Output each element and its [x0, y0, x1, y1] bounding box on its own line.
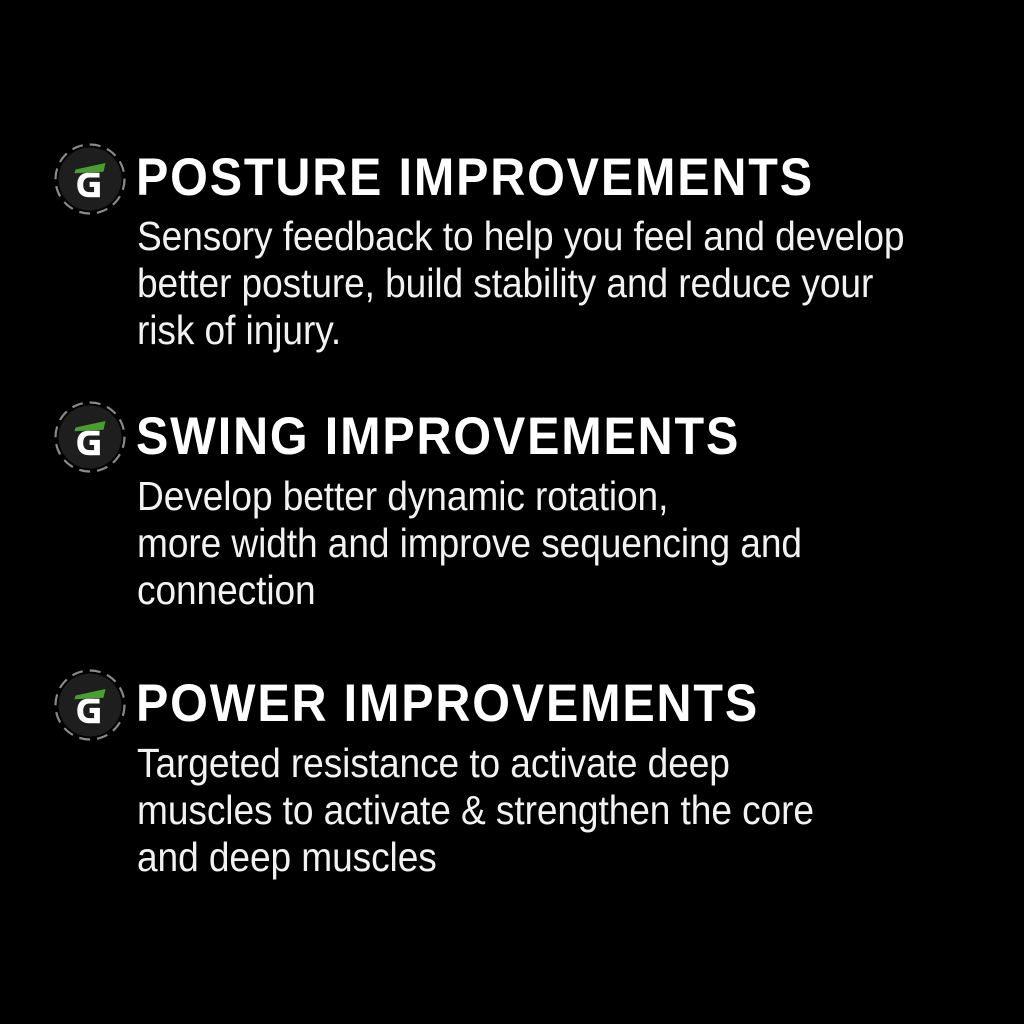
feature-heading-power: POWER IMPROVEMENTS [136, 676, 759, 732]
brand-g-badge-icon [53, 142, 127, 216]
feature-description-power: Targeted resistance to activate deep mus… [137, 740, 814, 881]
feature-description-swing: Develop better dynamic rotation, more wi… [137, 473, 802, 614]
brand-g-badge-icon [53, 668, 127, 742]
feature-list: POSTURE IMPROVEMENTS Sensory feedback to… [0, 0, 1024, 1024]
feature-heading-swing: SWING IMPROVEMENTS [136, 409, 740, 465]
feature-description-posture: Sensory feedback to help you feel and de… [137, 213, 904, 354]
brand-g-badge-icon [53, 400, 127, 474]
feature-heading-posture: POSTURE IMPROVEMENTS [136, 150, 814, 206]
feature-benefits-page: POSTURE IMPROVEMENTS Sensory feedback to… [0, 0, 1024, 1024]
